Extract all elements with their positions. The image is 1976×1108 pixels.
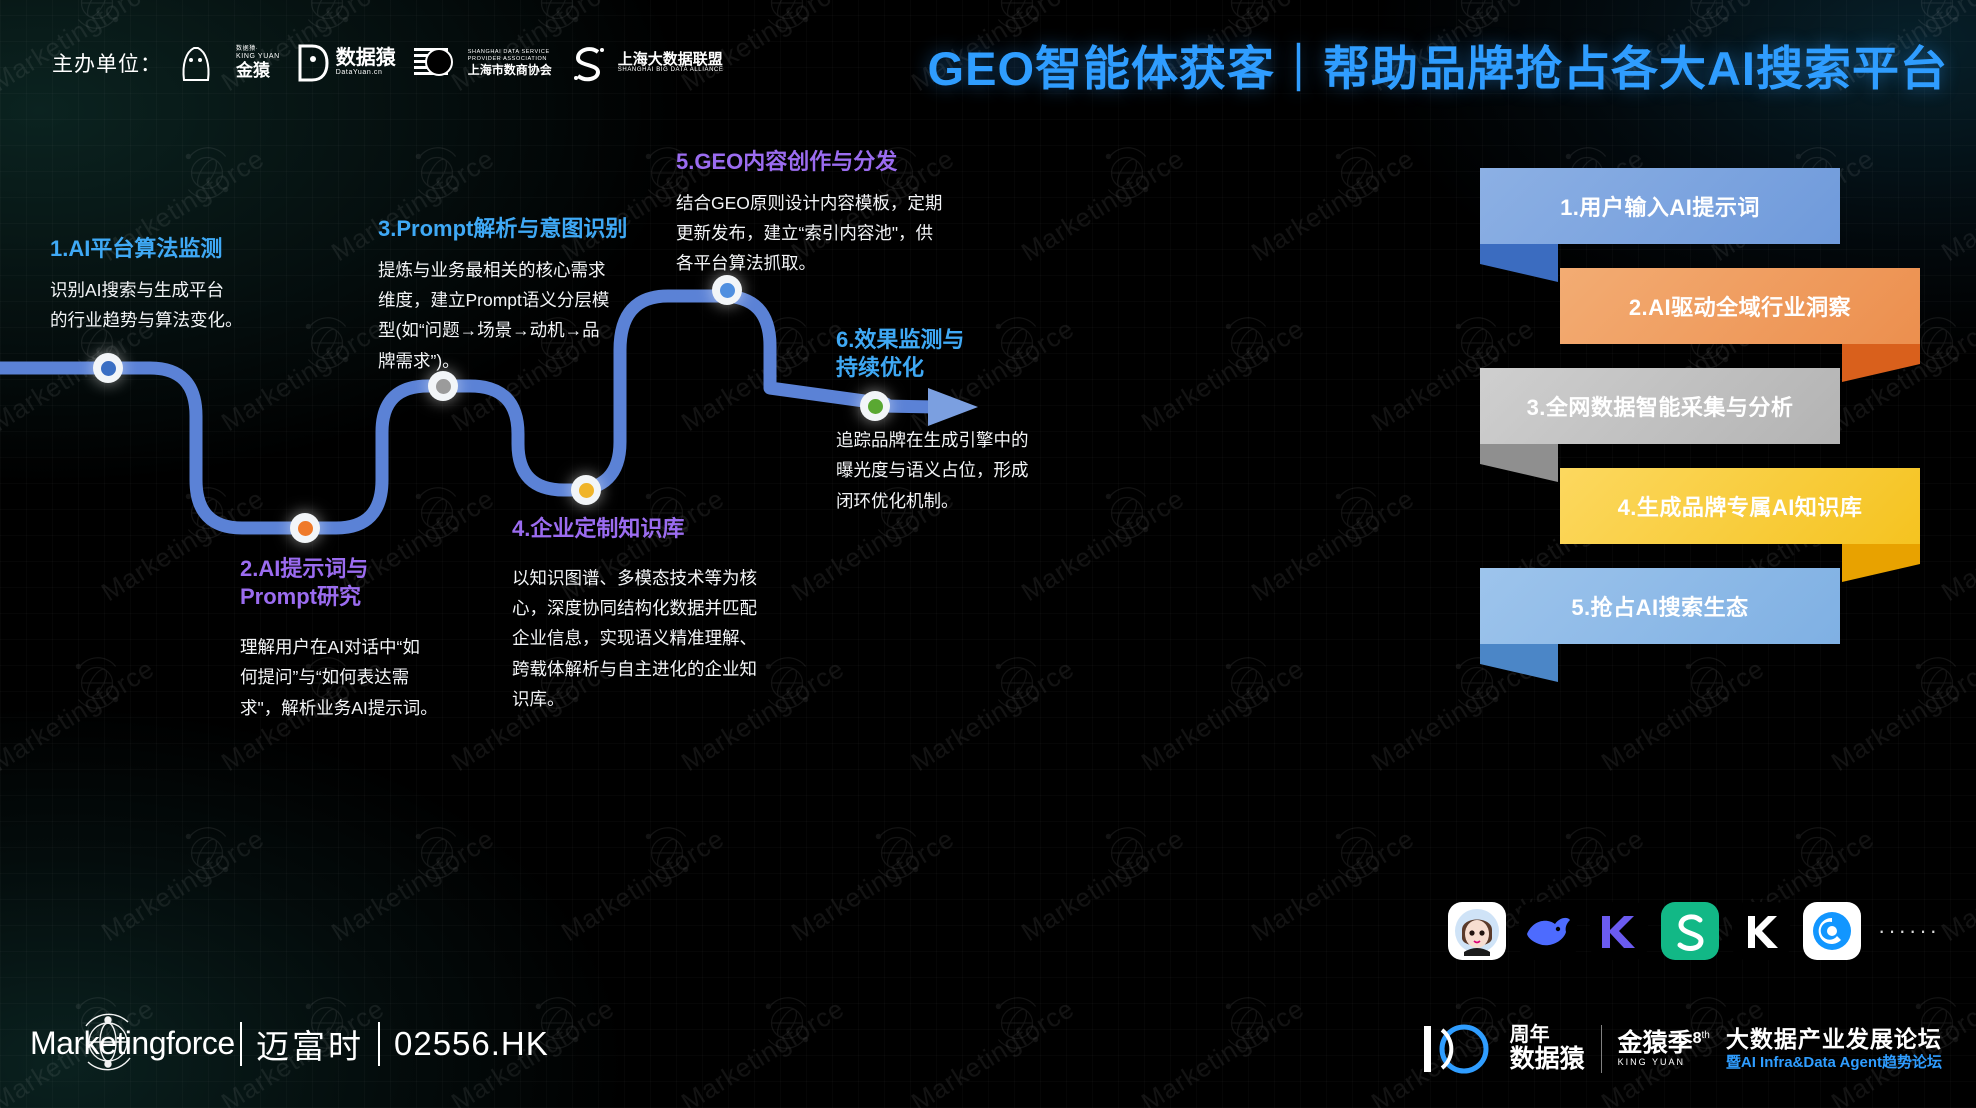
mf-divider-2 <box>378 1022 380 1066</box>
flow-step-1-body: 识别AI搜索与生成平台 的行业趋势与算法变化。 <box>50 275 350 336</box>
organizer-logo-datayuan: 数据猿 DataYuan.cn <box>296 42 396 84</box>
kingyuan-sup: 8 <box>1693 1030 1702 1048</box>
ribbon-item-3[interactable]: 3.全网数据智能采集与分析 <box>1480 368 1950 444</box>
watermark-text: Marketingforce <box>1246 143 1420 268</box>
doubao-logo[interactable] <box>1448 902 1506 960</box>
mf-ticker: 02556.HK <box>394 1025 549 1063</box>
organizer-logo-shanghai-data-assoc: SHANGHAI DATA SERVICE PROVIDER ASSOCIATI… <box>412 42 552 84</box>
mf-divider-1 <box>240 1022 242 1066</box>
ribbon-3-body[interactable]: 3.全网数据智能采集与分析 <box>1480 368 1840 444</box>
ribbon-5-tail <box>1480 644 1558 682</box>
quark-logo[interactable] <box>1661 902 1719 960</box>
header: 主办单位： 数据猿· KING YUAN 金猿 数据猿 <box>0 0 1976 120</box>
organizer-label: 主办单位： <box>52 48 162 78</box>
ribbon-4-body[interactable]: 4.生成品牌专属AI知识库 <box>1560 468 1920 544</box>
watermark-text: Marketingforce <box>1136 653 1310 778</box>
watermark-globe-icon <box>1556 822 1618 889</box>
more-platforms-dots: ······ <box>1878 918 1940 944</box>
watermark-globe-icon <box>1326 822 1388 889</box>
flow-step-1: 1.AI平台算法监测 识别AI搜索与生成平台 的行业趋势与算法变化。 <box>50 235 350 335</box>
flow-node-5[interactable] <box>712 275 742 305</box>
marketingforce-brand: Marketingforce 迈富时 02556.HK <box>30 1016 549 1072</box>
kingyuan-ape-icon <box>178 40 230 86</box>
anniversary-mark: 周年 数据猿 <box>1418 1020 1585 1078</box>
ai-platform-logo-row: ······ <box>1448 902 1940 960</box>
kingyuan-season-mark: 金猿季 8 th KING YUAN <box>1618 1030 1710 1067</box>
flow-node-4[interactable] <box>571 475 601 505</box>
watermark-globe-icon <box>1326 482 1388 549</box>
watermark-globe-icon <box>756 992 818 1059</box>
flow-node-6[interactable] <box>860 391 890 421</box>
flow-step-4-title: 4.企业定制知识库 <box>512 515 822 543</box>
organizer-logo-kingyuan: 数据猿· KING YUAN 金猿 <box>178 40 280 86</box>
process-flow: 1.AI平台算法监测 识别AI搜索与生成平台 的行业趋势与算法变化。 2.AI提… <box>0 120 1060 960</box>
ribbon-item-1[interactable]: 1.用户输入AI提示词 <box>1480 168 1950 244</box>
ribbon-3-label: 3.全网数据智能采集与分析 <box>1527 390 1794 422</box>
watermark-globe-icon <box>986 992 1048 1059</box>
ribbon-1-body[interactable]: 1.用户输入AI提示词 <box>1480 168 1840 244</box>
kimi-logo[interactable] <box>1590 902 1648 960</box>
sdspa-icon <box>412 42 462 84</box>
flow-step-6-desc: 追踪品牌在生成引擎中的 曝光度与语义占位，形成 闭环优化机制。 <box>836 425 1066 516</box>
flow-step-5: 5.GEO内容创作与分发 结合GEO原则设计内容模板，定期 更新发布，建立“索引… <box>676 148 986 279</box>
watermark-text: Marketingforce <box>1136 993 1310 1108</box>
watermark-globe-icon <box>1786 822 1848 889</box>
flow-step-1-title: 1.AI平台算法监测 <box>50 235 350 263</box>
watermark-globe-icon <box>1216 992 1278 1059</box>
ribbon-2-body[interactable]: 2.AI驱动全域行业洞察 <box>1560 268 1920 344</box>
flow-step-6-title: 6.效果监测与 持续优化 <box>836 326 1066 381</box>
ribbon-2-label: 2.AI驱动全域行业洞察 <box>1629 290 1851 322</box>
flow-step-4: 4.企业定制知识库 以知识图谱、多模态技术等为核 心，深度协同结构化数据并匹配 … <box>512 515 822 715</box>
flow-step-2-body: 理解用户在AI对话中“如 何提问”与“如何表达需 求"，解析业务AI提示词。 <box>240 632 515 723</box>
anniversary-label-top: 周年 <box>1510 1025 1585 1046</box>
ribbon-5-label: 5.抢占AI搜索生态 <box>1571 590 1748 622</box>
flow-step-3-title: 3.Prompt解析与意图识别 <box>378 215 678 243</box>
flow-step-2-title: 2.AI提示词与 Prompt研究 <box>240 555 515 610</box>
ribbon-item-4[interactable]: 4.生成品牌专属AI知识库 <box>1480 468 1950 544</box>
svg-text:Marketingforce: Marketingforce <box>30 1025 235 1061</box>
ribbon-item-5[interactable]: 5.抢占AI搜索生态 <box>1480 568 1950 644</box>
brand-divider <box>1601 1025 1602 1073</box>
datayuan-d-icon <box>296 42 330 84</box>
watermark-text: Marketingforce <box>1136 313 1310 438</box>
forum-subtitle: 暨AI Infra&Data Agent趋势论坛 <box>1726 1054 1942 1073</box>
watermark-text: Marketingforce <box>1936 823 1976 948</box>
slide-canvas: MarketingforceMarketingforceMarketingfor… <box>0 0 1976 1108</box>
watermark-text: Marketingforce <box>676 993 850 1108</box>
watermark-text: Marketingforce <box>1246 823 1420 948</box>
kingyuan-cn: 金猿季 <box>1618 1030 1693 1058</box>
page-title: GEO智能体获客｜帮助品牌抢占各大AI搜索平台 <box>928 30 1948 99</box>
organizer-row: 主办单位： 数据猿· KING YUAN 金猿 数据猿 <box>52 40 724 86</box>
watermark-text: Marketingforce <box>1826 653 1976 778</box>
watermark-globe-icon <box>1096 142 1158 209</box>
flow-step-6-body: 追踪品牌在生成引擎中的 曝光度与语义占位，形成 闭环优化机制。 <box>836 425 1066 516</box>
outcome-ribbon-list: 1.用户输入AI提示词 2.AI驱动全域行业洞察 3.全网数据智能采集与分析 <box>1480 168 1950 668</box>
flow-node-1[interactable] <box>93 353 123 383</box>
yuanbao-logo[interactable] <box>1803 902 1861 960</box>
flow-step-4-body: 以知识图谱、多模态技术等为核 心，深度协同结构化数据并匹配 企业信息，实现语义精… <box>512 563 822 715</box>
watermark-text: Marketingforce <box>1246 483 1420 608</box>
watermark-globe-icon <box>1326 142 1388 209</box>
kuake-logo[interactable] <box>1732 902 1790 960</box>
marketingforce-logo-icon: Marketingforce <box>30 1016 226 1072</box>
flow-step-6: 6.效果监测与 持续优化 <box>836 326 1066 393</box>
mf-cn-name: 迈富时 <box>256 1020 364 1068</box>
event-brand: 周年 数据猿 金猿季 8 th KING YUAN 大数据产业发展论坛 暨AI … <box>1418 1020 1942 1078</box>
watermark-globe-icon <box>1096 822 1158 889</box>
deepseek-logo[interactable] <box>1519 902 1577 960</box>
forum-titles: 大数据产业发展论坛 暨AI Infra&Data Agent趋势论坛 <box>1726 1025 1942 1073</box>
flow-step-3-body: 提炼与业务最相关的核心需求 维度，建立Prompt语义分层模 型(如“问题→场景… <box>378 255 678 377</box>
ribbon-5-body[interactable]: 5.抢占AI搜索生态 <box>1480 568 1840 644</box>
flow-node-2[interactable] <box>290 513 320 543</box>
kingyuan-en: KING YUAN <box>1618 1058 1710 1068</box>
sbda-s-icon <box>568 42 612 84</box>
watermark-text: Marketingforce <box>906 993 1080 1108</box>
ribbon-item-2[interactable]: 2.AI驱动全域行业洞察 <box>1480 268 1950 344</box>
ribbon-1-label: 1.用户输入AI提示词 <box>1560 190 1760 222</box>
kingyuan-sup-th: th <box>1702 1030 1710 1041</box>
flow-step-2: 2.AI提示词与 Prompt研究 理解用户在AI对话中“如 何提问”与“如何表… <box>240 555 515 723</box>
flow-step-3: 3.Prompt解析与意图识别 提炼与业务最相关的核心需求 维度，建立Promp… <box>378 215 678 376</box>
watermark-globe-icon <box>1216 312 1278 379</box>
ribbon-4-label: 4.生成品牌专属AI知识库 <box>1618 490 1863 522</box>
anniversary-10-icon <box>1418 1020 1502 1078</box>
organizer-logo-sbda: 上海大数据联盟 SHANGHAI BIG DATA ALLIANCE <box>568 42 724 84</box>
flow-step-5-body: 结合GEO原则设计内容模板，定期 更新发布，建立“索引内容池"，供 各平台算法抓… <box>676 188 986 279</box>
watermark-text: Marketingforce <box>1596 653 1770 778</box>
watermark-globe-icon <box>1096 482 1158 549</box>
anniversary-label-bottom: 数据猿 <box>1510 1046 1585 1072</box>
flow-step-5-title: 5.GEO内容创作与分发 <box>676 148 986 176</box>
forum-title: 大数据产业发展论坛 <box>1726 1025 1942 1054</box>
watermark-globe-icon <box>1216 652 1278 719</box>
